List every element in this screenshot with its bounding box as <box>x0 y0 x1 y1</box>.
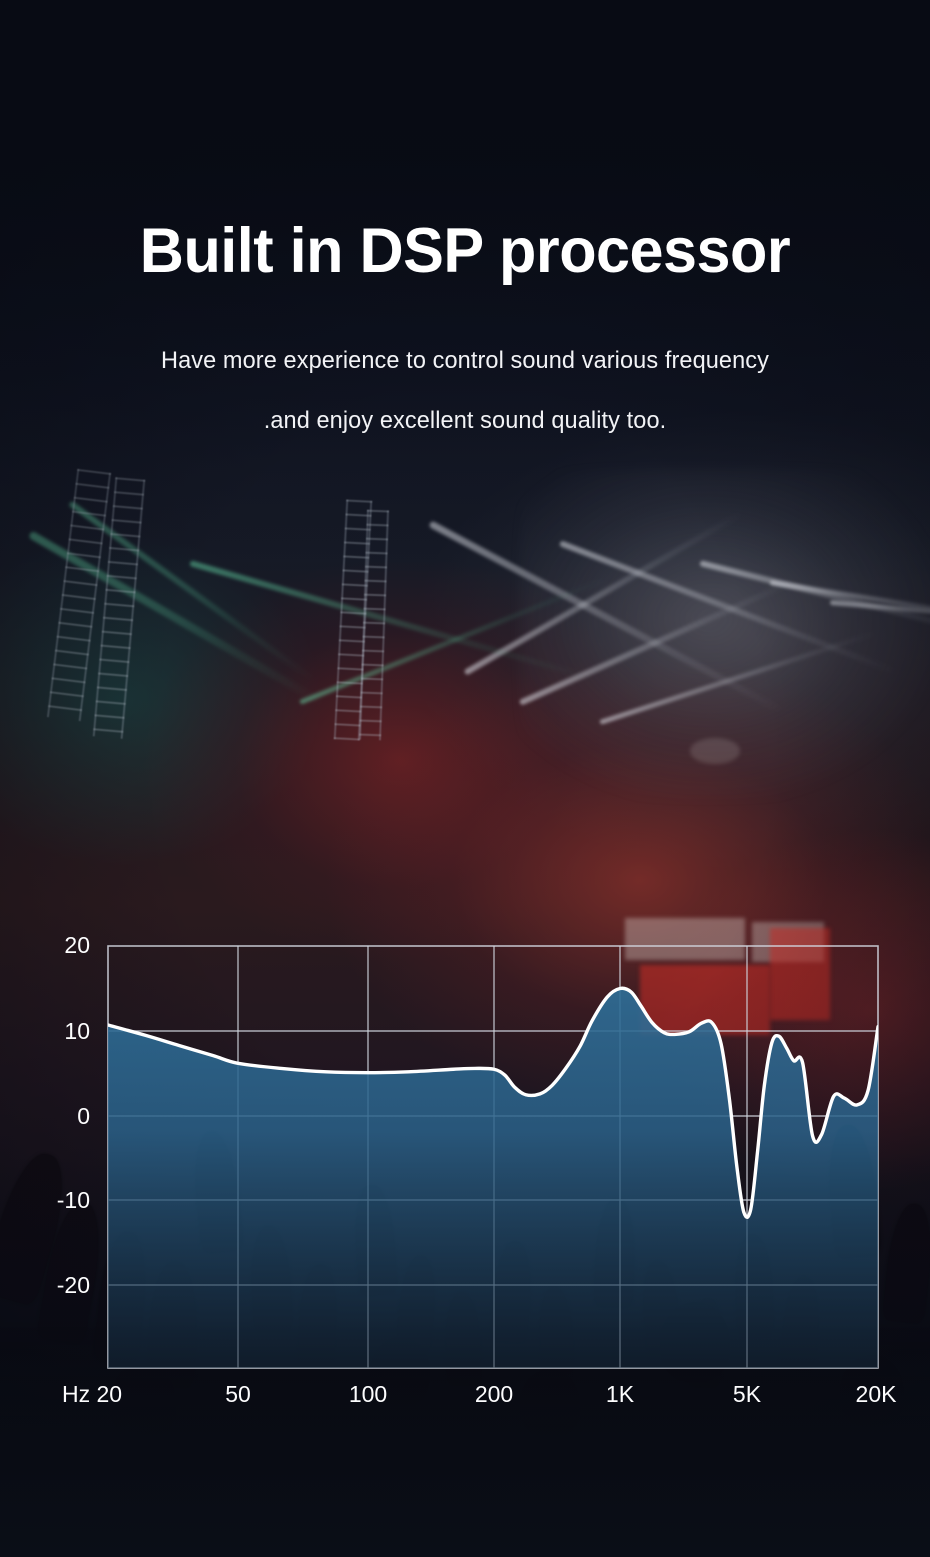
hero-subtitle: Have more experience to control sound va… <box>19 284 912 451</box>
hero-subtitle-line-2: .and enjoy excellent sound quality too. <box>264 407 667 434</box>
page-title: Built in DSP processor <box>14 0 916 284</box>
hero-text-block: Built in DSP processor Have more experie… <box>0 0 930 451</box>
promo-page: Built in DSP processor Have more experie… <box>0 0 930 1557</box>
hero-subtitle-line-1: Have more experience to control sound va… <box>161 347 769 374</box>
